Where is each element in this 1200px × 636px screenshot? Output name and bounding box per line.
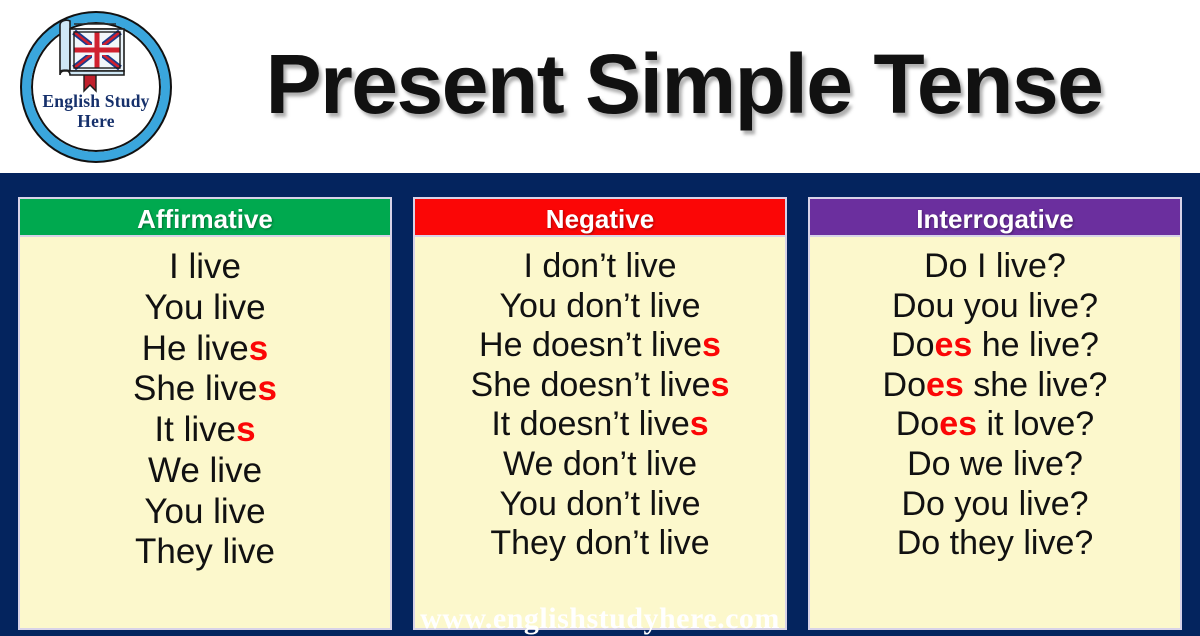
conjugation-row: They don’t live [490,524,709,564]
highlighted-suffix: s [690,405,709,443]
conjugation-row: Does she live? [883,366,1108,406]
conjugation-row: Do we live? [907,445,1083,485]
conjugation-row: Does it love? [896,405,1094,445]
conjugation-row: We live [148,451,262,492]
conjugation-row: You live [144,288,265,329]
column-affirmative: Affirmative I liveYou liveHe livesShe li… [18,197,392,630]
highlighted-suffix: es [926,366,964,404]
conjugation-row: Do you live? [901,485,1088,525]
highlighted-suffix: s [702,326,721,364]
conjugation-row: He doesn’t lives [479,326,721,366]
logo-text-line2: Here [16,113,176,131]
conjugation-row: You don’t live [499,287,700,327]
conjugation-row: Do I live? [924,247,1066,287]
conjugation-row: He lives [142,329,268,370]
column-interrogative: Interrogative Do I live?Dou you live?Doe… [808,197,1182,630]
highlighted-suffix: s [236,410,255,449]
conjugation-row: You don’t live [499,485,700,525]
conjugation-row: Does he live? [891,326,1099,366]
logo-text-line1: English Study [16,93,176,111]
conjugation-row: We don’t live [503,445,697,485]
present-simple-tense-poster: English Study Here Present Simple Tense … [0,0,1200,630]
highlighted-suffix: es [935,326,973,364]
column-header-negative: Negative [413,197,787,237]
highlighted-suffix: es [939,405,977,443]
logo-book-icon [16,9,176,164]
english-study-here-logo: English Study Here [16,9,176,164]
column-header-affirmative: Affirmative [18,197,392,237]
column-body-negative: I don’t liveYou don’t liveHe doesn’t liv… [413,237,787,630]
conjugation-row: They live [135,532,275,573]
highlighted-suffix: s [258,369,277,408]
conjugation-row: She doesn’t lives [471,366,730,406]
conjugation-row: I don’t live [523,247,676,287]
poster-header: English Study Here Present Simple Tense [0,0,1200,173]
highlighted-suffix: s [249,329,268,368]
conjugation-row: Do they live? [897,524,1094,564]
conjugation-row: It doesn’t lives [491,405,708,445]
column-header-interrogative: Interrogative [808,197,1182,237]
conjugation-row: You live [144,492,265,533]
highlighted-suffix: s [711,366,730,404]
conjugation-row: I live [169,247,241,288]
column-body-interrogative: Do I live?Dou you live?Does he live?Does… [808,237,1182,630]
conjugation-row: She lives [133,369,277,410]
conjugation-row: It lives [154,410,255,451]
tense-columns: Affirmative I liveYou liveHe livesShe li… [0,173,1200,630]
column-body-affirmative: I liveYou liveHe livesShe livesIt livesW… [18,237,392,630]
page-title: Present Simple Tense [176,36,1200,133]
conjugation-row: Dou you live? [892,287,1098,327]
footer-website-url: www.englishstudyhere.com [0,602,1200,636]
column-negative: Negative I don’t liveYou don’t liveHe do… [413,197,787,630]
